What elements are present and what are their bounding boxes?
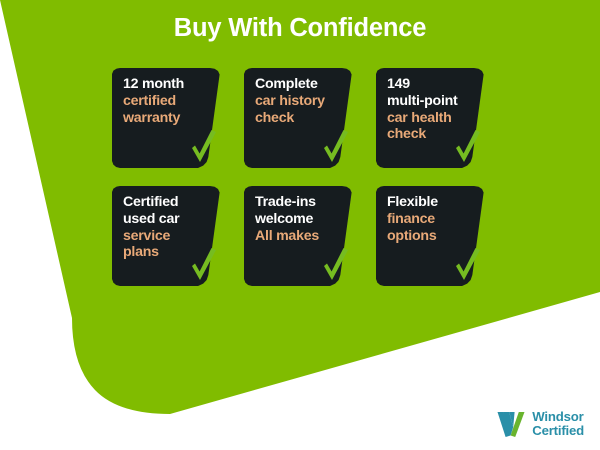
card-line-accent-1: car history (255, 93, 346, 110)
brand-logo[interactable]: Windsor Certified (496, 410, 584, 438)
check-icon (189, 247, 219, 285)
card-line-primary-1: Certified (123, 194, 214, 211)
logo-line-2: Certified (532, 424, 584, 438)
feature-card-row-2: Certified used car service plans Trade-i… (112, 186, 492, 286)
card-text: 12 month certified warranty (123, 76, 214, 126)
check-icon (189, 129, 219, 167)
card-line-accent-1: car health (387, 110, 478, 127)
page-title: Buy With Confidence (0, 14, 600, 43)
card-line-accent-1: All makes (255, 228, 346, 245)
windsor-w-icon (496, 410, 526, 438)
check-icon (453, 247, 483, 285)
card-line-accent-1: finance (387, 211, 478, 228)
card-line-accent-2: check (255, 110, 346, 127)
feature-card-grid: 12 month certified warranty Complete car… (112, 68, 492, 286)
card-line-primary-1: 149 (387, 76, 478, 93)
card-line-primary-1: Trade-ins (255, 194, 346, 211)
feature-card-flexible-finance-options[interactable]: Flexible finance options (376, 186, 490, 286)
card-line-accent-1: service (123, 228, 214, 245)
feature-card-certified-used-car-service-plans[interactable]: Certified used car service plans (112, 186, 226, 286)
card-text: Complete car history check (255, 76, 346, 126)
card-line-accent-1: certified (123, 93, 214, 110)
check-icon (321, 129, 351, 167)
card-line-primary-1: Complete (255, 76, 346, 93)
feature-card-trade-ins-welcome-all-makes[interactable]: Trade-ins welcome All makes (244, 186, 358, 286)
logo-wordmark: Windsor Certified (532, 410, 584, 438)
feature-card-row-1: 12 month certified warranty Complete car… (112, 68, 492, 168)
check-icon (453, 129, 483, 167)
check-icon (321, 247, 351, 285)
card-line-accent-2: options (387, 228, 478, 245)
card-line-accent-2: warranty (123, 110, 214, 127)
logo-line-1: Windsor (532, 410, 584, 424)
card-line-primary-2: multi-point (387, 93, 478, 110)
promo-banner: Buy With Confidence 12 month certified w… (0, 0, 600, 450)
card-line-primary-1: 12 month (123, 76, 214, 93)
card-line-primary-2: welcome (255, 211, 346, 228)
feature-card-complete-car-history-check[interactable]: Complete car history check (244, 68, 358, 168)
feature-card-149-multi-point-car-health-check[interactable]: 149 multi-point car health check (376, 68, 490, 168)
card-line-primary-1: Flexible (387, 194, 478, 211)
feature-card-12-month-certified-warranty[interactable]: 12 month certified warranty (112, 68, 226, 168)
card-line-primary-2: used car (123, 211, 214, 228)
card-text: Flexible finance options (387, 194, 478, 244)
card-text: Trade-ins welcome All makes (255, 194, 346, 244)
